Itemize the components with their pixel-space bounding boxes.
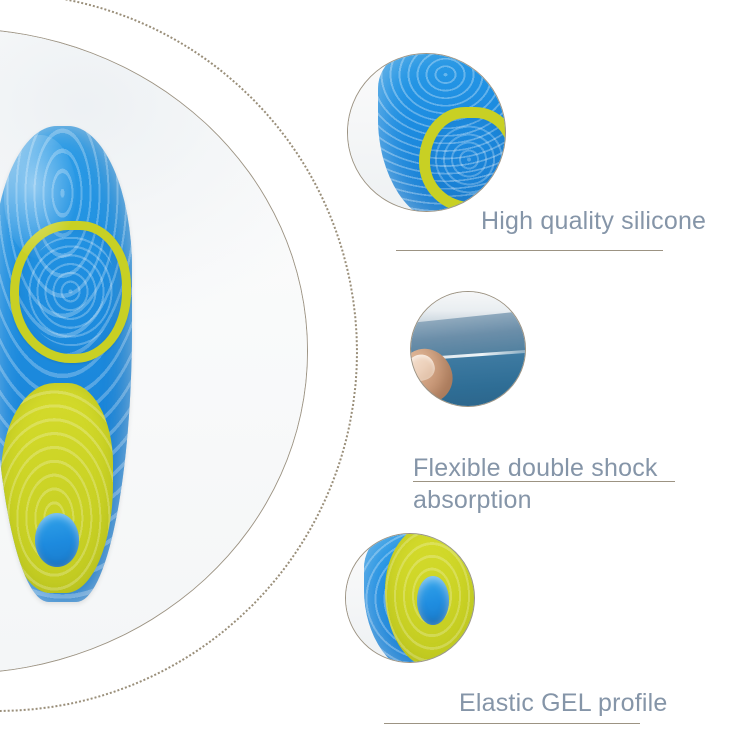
callout-image-high-quality-silicone xyxy=(347,53,506,212)
callout-label-high-quality-silicone: High quality silicone xyxy=(481,205,706,237)
thumbnail xyxy=(410,352,438,384)
arch-gel-panel xyxy=(1,383,113,593)
arch-gel-panel xyxy=(385,533,475,663)
forefoot-gel-ring xyxy=(419,107,506,212)
gel-arch-closeup xyxy=(364,533,475,663)
heel-gel-cup xyxy=(35,513,80,568)
callout-image-elastic-gel-profile xyxy=(345,533,475,663)
callout-rule-elastic-gel-profile xyxy=(384,723,640,724)
product-feature-graphic: High quality silicone Flexible double sh… xyxy=(0,0,750,750)
hero-product-circle xyxy=(0,28,308,674)
callout-rule-flexible-double-shock-absorption xyxy=(413,481,675,482)
insole-right xyxy=(0,126,132,603)
gel-forefoot-closeup xyxy=(378,53,506,212)
flexing-fabric-closeup xyxy=(411,292,525,406)
callout-image-flexible-double-shock-absorption xyxy=(410,291,526,407)
gel-insoles-product-photo xyxy=(0,29,307,673)
callout-rule-high-quality-silicone xyxy=(396,250,663,251)
forefoot-gel-ring xyxy=(10,221,131,363)
heel-gel-cup xyxy=(417,576,449,625)
callout-label-elastic-gel-profile: Elastic GEL profile xyxy=(459,687,668,719)
callout-label-flexible-double-shock-absorption: Flexible double shock absorption xyxy=(413,452,658,516)
